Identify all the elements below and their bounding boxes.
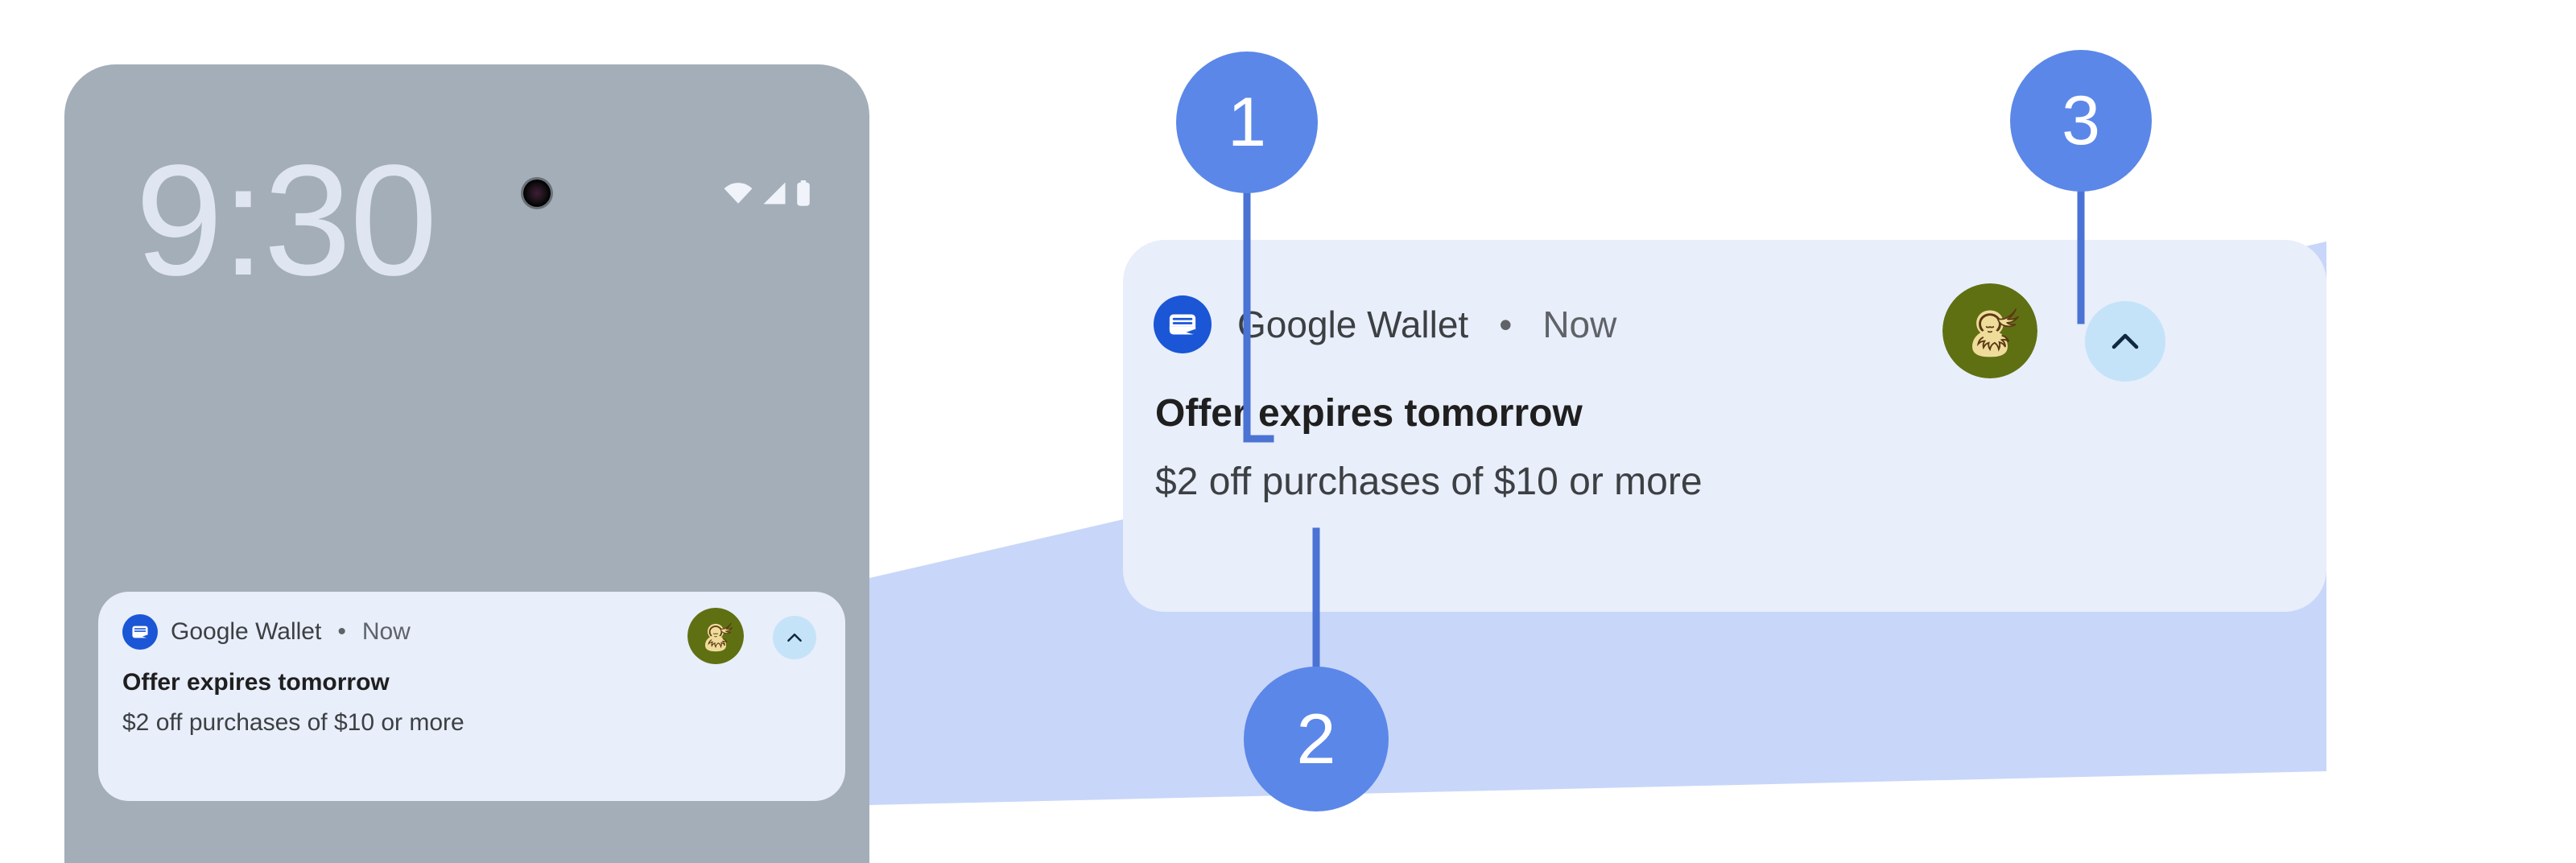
callout-badge-2[interactable]: 2 [1244,667,1389,811]
cellular-signal-icon [761,181,788,205]
google-wallet-icon [122,614,158,650]
merchant-avatar [687,608,744,664]
lockscreen-clock: 9:30 [135,142,436,299]
notification-separator: • [1499,303,1512,346]
notification-header-small: Google Wallet • Now [122,613,821,651]
annotated-screenshot: 9:30 Google Wallet • Now [0,0,2576,863]
google-wallet-icon [1154,295,1212,353]
front-camera-lens-icon [523,180,551,207]
notification-header-large: Google Wallet • Now [1123,290,2326,359]
merchant-avatar [1942,283,2037,378]
notification-body: $2 off purchases of $10 or more [122,709,821,737]
notification-timestamp: Now [362,618,411,646]
callout-badge-1[interactable]: 1 [1176,52,1318,193]
notification-card-large[interactable]: Google Wallet • Now [1123,240,2326,612]
status-bar-icons [723,177,811,209]
notification-timestamp: Now [1542,303,1616,346]
notification-title: Offer expires tomorrow [1155,391,2326,436]
notification-title: Offer expires tomorrow [122,669,821,696]
notification-body: $2 off purchases of $10 or more [1155,460,2326,504]
callout-badge-3[interactable]: 3 [2010,50,2152,192]
notification-app-name: Google Wallet [1237,303,1468,346]
chevron-up-icon[interactable] [773,616,816,659]
phone-mockup: 9:30 Google Wallet • Now [64,64,869,863]
battery-icon [795,180,811,206]
chevron-up-icon[interactable] [2085,301,2165,382]
wifi-icon [723,181,753,205]
notification-separator: • [337,618,346,646]
notification-card-small[interactable]: Google Wallet • Now [98,592,845,801]
notification-app-name: Google Wallet [171,618,321,646]
